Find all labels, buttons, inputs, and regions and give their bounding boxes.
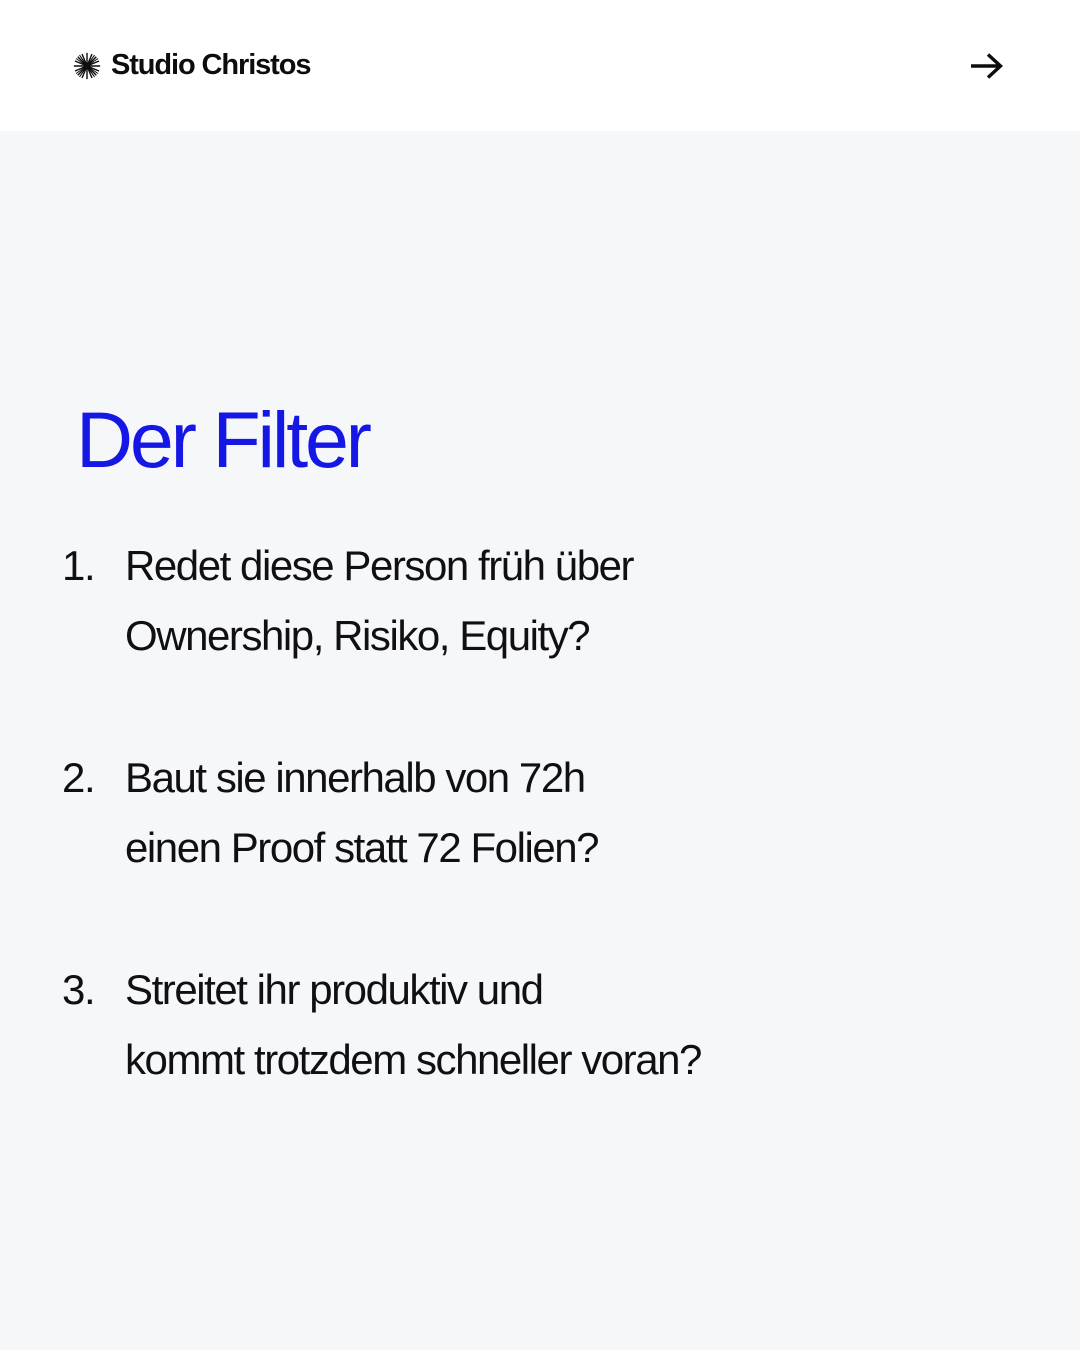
list-item-line: Baut sie innerhalb von 72h: [125, 743, 922, 813]
brand-name: Studio Christos: [111, 51, 310, 80]
filter-criteria-list: 1. Redet diese Person früh über Ownershi…: [62, 531, 922, 1095]
list-item-text: Streitet ihr produktiv und kommt trotzde…: [125, 955, 922, 1095]
brand-lockup[interactable]: Studio Christos: [72, 50, 310, 81]
list-item-line: einen Proof statt 72 Folien?: [125, 813, 922, 883]
list-item-line: Ownership, Risiko, Equity?: [125, 601, 922, 671]
asterisk-starburst-icon: [72, 51, 102, 81]
slide-root: Studio Christos Der Filter 1. Redet dies…: [0, 0, 1080, 1350]
list-item: 2. Baut sie innerhalb von 72h einen Proo…: [62, 743, 922, 883]
list-item-number: 3.: [62, 955, 106, 1025]
page-title: Der Filter: [76, 400, 369, 479]
list-item-number: 1.: [62, 531, 106, 601]
list-item: 3. Streitet ihr produktiv und kommt trot…: [62, 955, 922, 1095]
list-item-line: Redet diese Person früh über: [125, 531, 922, 601]
list-item-text: Redet diese Person früh über Ownership, …: [125, 531, 922, 671]
list-item-text: Baut sie innerhalb von 72h einen Proof s…: [125, 743, 922, 883]
list-item: 1. Redet diese Person früh über Ownershi…: [62, 531, 922, 671]
header-bar: Studio Christos: [0, 0, 1080, 131]
content-area: Der Filter 1. Redet diese Person früh üb…: [0, 131, 1080, 1350]
arrow-right-icon[interactable]: [964, 44, 1008, 88]
list-item-line: kommt trotzdem schneller voran?: [125, 1025, 922, 1095]
list-item-line: Streitet ihr produktiv und: [125, 955, 922, 1025]
list-item-number: 2.: [62, 743, 106, 813]
